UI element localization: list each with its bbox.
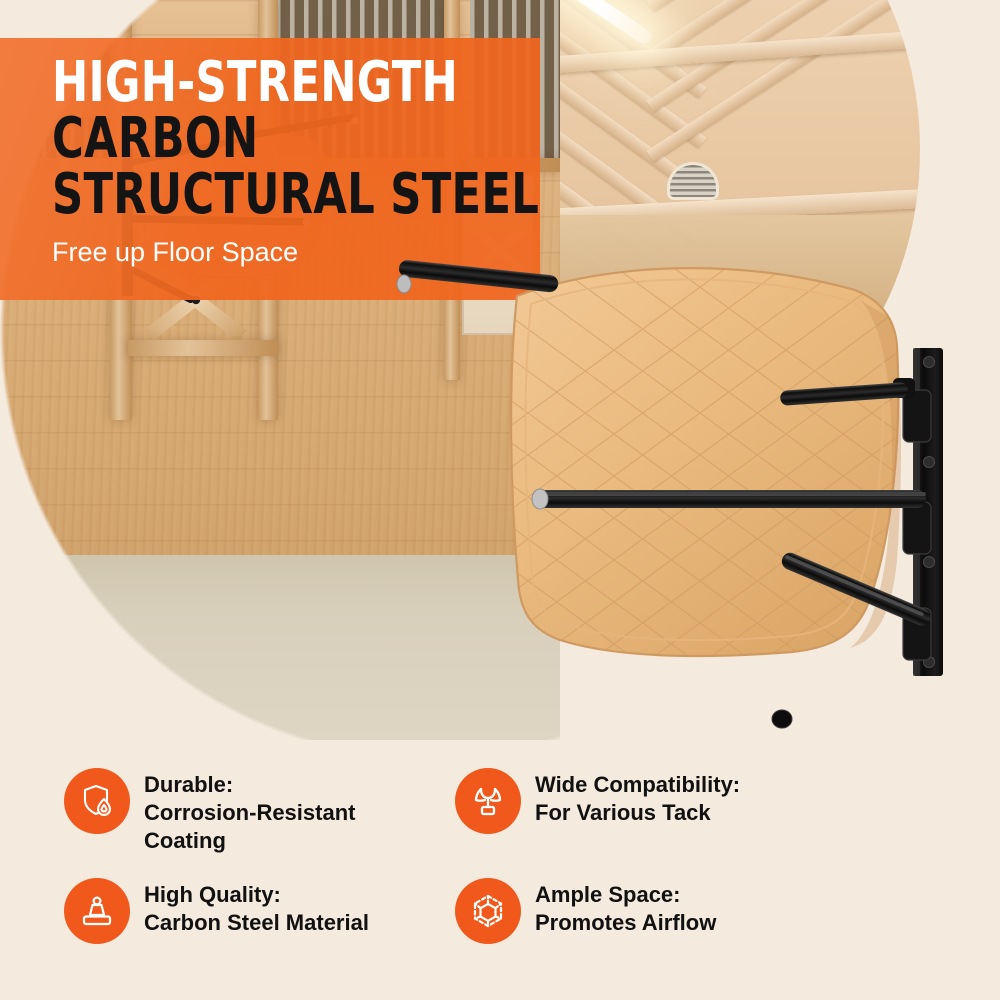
saddle-stand-icon [455, 768, 521, 834]
feature-label: High Quality: Carbon Steel Material [144, 878, 369, 937]
feature-list: Durable: Corrosion-Resistant Coating Wid… [0, 752, 1000, 1000]
feature-item-compatibility: Wide Compatibility: For Various Tack [455, 768, 855, 834]
feature-label: Durable: Corrosion-Resistant Coating [144, 768, 355, 855]
shield-droplet-icon [64, 768, 130, 834]
feature-item-durable: Durable: Corrosion-Resistant Coating [64, 768, 444, 855]
feature-label: Wide Compatibility: For Various Tack [535, 768, 740, 827]
product-hero-image [0, 0, 1000, 770]
feature-item-space: Ample Space: Promotes Airflow [455, 878, 855, 944]
feature-item-quality: High Quality: Carbon Steel Material [64, 878, 444, 944]
middle-swing-arm [532, 489, 926, 509]
weight-on-bar-icon [64, 878, 130, 944]
dashed-cube-icon [455, 878, 521, 944]
quilted-saddle-pad [240, 170, 1000, 770]
feature-label: Ample Space: Promotes Airflow [535, 878, 716, 937]
product-infographic: HIGH-STRENGTH CARBON STRUCTURAL STEEL Fr… [0, 0, 1000, 1000]
